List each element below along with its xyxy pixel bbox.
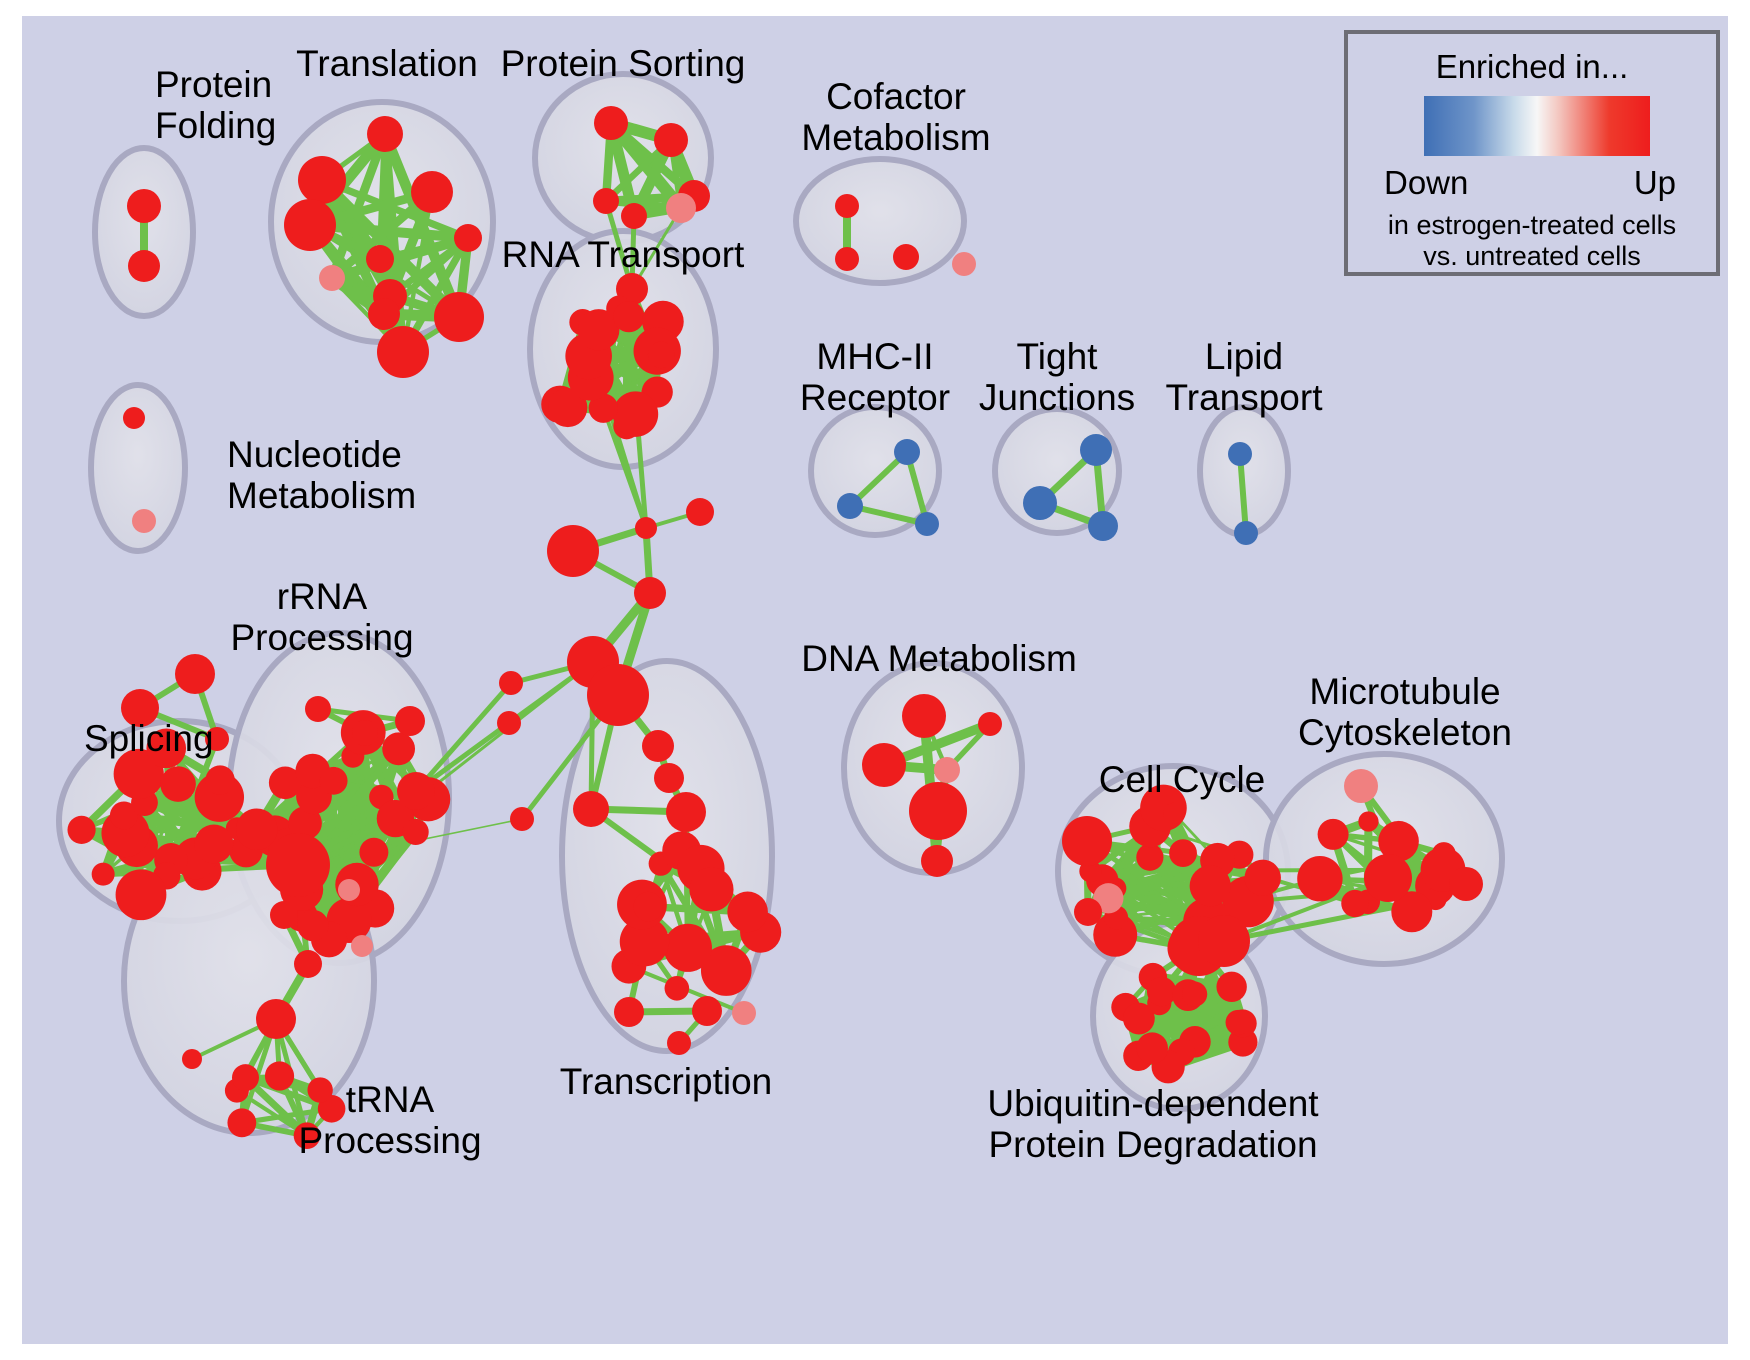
network-node[interactable]: [666, 792, 706, 832]
legend-subtitle: in estrogen-treated cellsvs. untreated c…: [1348, 210, 1716, 272]
network-node[interactable]: [128, 250, 160, 282]
network-node[interactable]: [621, 203, 647, 229]
network-node[interactable]: [634, 577, 666, 609]
network-node[interactable]: [665, 976, 690, 1001]
network-node[interactable]: [298, 156, 346, 204]
network-node[interactable]: [194, 824, 233, 863]
cluster-label-rrna-processing: rRNA Processing: [230, 576, 413, 658]
network-node[interactable]: [573, 791, 609, 827]
network-node[interactable]: [1023, 486, 1057, 520]
network-node[interactable]: [338, 879, 360, 901]
cluster-label-lipid-transport: Lipid Transport: [1166, 336, 1323, 418]
network-node[interactable]: [397, 772, 435, 810]
cluster-hull: [796, 159, 964, 283]
network-node[interactable]: [934, 757, 960, 783]
network-node[interactable]: [894, 439, 920, 465]
network-node[interactable]: [116, 869, 167, 920]
network-node[interactable]: [732, 1001, 756, 1025]
network-node[interactable]: [1341, 890, 1368, 917]
network-node[interactable]: [1344, 769, 1378, 803]
network-node[interactable]: [351, 935, 373, 957]
network-node[interactable]: [92, 863, 115, 886]
network-node[interactable]: [648, 342, 675, 369]
color-scale-bar: [1424, 96, 1650, 156]
network-node[interactable]: [256, 999, 296, 1039]
network-node[interactable]: [978, 712, 1002, 736]
network-node[interactable]: [319, 265, 345, 291]
network-node[interactable]: [411, 171, 453, 213]
network-node[interactable]: [266, 833, 330, 897]
network-node[interactable]: [294, 950, 322, 978]
network-node[interactable]: [1074, 898, 1102, 926]
network-node[interactable]: [1190, 865, 1231, 906]
network-node[interactable]: [1358, 811, 1378, 831]
network-node[interactable]: [835, 247, 859, 271]
network-node[interactable]: [1226, 1010, 1251, 1035]
network-node[interactable]: [1449, 867, 1483, 901]
network-node[interactable]: [902, 694, 946, 738]
network-node[interactable]: [67, 816, 95, 844]
network-node[interactable]: [1136, 1032, 1168, 1064]
network-node[interactable]: [654, 763, 684, 793]
network-node[interactable]: [727, 892, 768, 933]
cluster-label-nucleotide-metabolism: Nucleotide Metabolism: [227, 434, 416, 516]
figure-canvas: Protein FoldingTranslationProtein Sortin…: [0, 0, 1750, 1360]
network-node[interactable]: [835, 194, 859, 218]
network-node[interactable]: [497, 711, 521, 735]
network-node[interactable]: [1228, 442, 1252, 466]
network-node[interactable]: [909, 782, 967, 840]
network-node[interactable]: [366, 245, 394, 273]
network-node[interactable]: [1364, 854, 1412, 902]
cluster-label-tight-junctions: Tight Junctions: [979, 336, 1135, 418]
legend-title: Enriched in...: [1348, 48, 1716, 86]
network-node[interactable]: [587, 664, 649, 726]
network-node[interactable]: [127, 189, 161, 223]
network-node[interactable]: [182, 1049, 202, 1069]
legend-subtitle-line2: vs. untreated cells: [1423, 241, 1641, 271]
network-node[interactable]: [689, 867, 733, 911]
network-node[interactable]: [862, 743, 906, 787]
network-node[interactable]: [297, 910, 328, 941]
network-node[interactable]: [635, 517, 657, 539]
network-node[interactable]: [613, 301, 644, 332]
network-node[interactable]: [395, 706, 425, 736]
network-node[interactable]: [320, 767, 348, 795]
network-node[interactable]: [499, 671, 523, 695]
network-plot: Protein FoldingTranslationProtein Sortin…: [22, 16, 1728, 1344]
cluster-label-microtubule-cytoskeleton: Microtubule Cytoskeleton: [1298, 671, 1512, 753]
network-node[interactable]: [1198, 915, 1250, 967]
network-node[interactable]: [1234, 521, 1258, 545]
network-node[interactable]: [305, 696, 331, 722]
network-node[interactable]: [284, 199, 336, 251]
network-node[interactable]: [160, 766, 196, 802]
cluster-label-rna-transport: RNA Transport: [502, 234, 745, 275]
network-node[interactable]: [227, 1108, 256, 1137]
network-node[interactable]: [368, 298, 400, 330]
network-node[interactable]: [367, 116, 403, 152]
cluster-label-translation: Translation: [296, 43, 478, 84]
network-node[interactable]: [1318, 819, 1349, 850]
network-node[interactable]: [1147, 977, 1176, 1006]
network-node[interactable]: [132, 509, 156, 533]
network-node[interactable]: [510, 807, 534, 831]
network-node[interactable]: [666, 193, 696, 223]
cluster-label-ubiquitin-protein-degradation: Ubiquitin-dependent Protein Degradation: [987, 1083, 1318, 1165]
network-node[interactable]: [1169, 839, 1197, 867]
network-node[interactable]: [434, 292, 484, 342]
network-node[interactable]: [236, 808, 278, 850]
network-node[interactable]: [377, 326, 429, 378]
legend-box: Enriched in... Down Up in estrogen-treat…: [1344, 30, 1720, 276]
network-node[interactable]: [594, 106, 628, 140]
network-node[interactable]: [654, 123, 688, 157]
cluster-label-trna-processing: tRNA Processing: [298, 1079, 481, 1161]
network-node[interactable]: [205, 765, 234, 794]
network-node[interactable]: [664, 924, 712, 972]
network-node[interactable]: [1088, 511, 1118, 541]
network-node[interactable]: [613, 391, 658, 436]
network-node[interactable]: [614, 997, 644, 1027]
cluster-label-mhc-ii-receptor: MHC-II Receptor: [800, 336, 950, 418]
network-node[interactable]: [265, 1061, 294, 1090]
cluster-label-cell-cycle: Cell Cycle: [1099, 759, 1266, 800]
network-node[interactable]: [454, 224, 482, 252]
network-node[interactable]: [1216, 972, 1246, 1002]
network-node[interactable]: [1182, 982, 1207, 1007]
network-node[interactable]: [692, 996, 722, 1026]
network-node[interactable]: [837, 493, 863, 519]
cluster-label-protein-sorting: Protein Sorting: [501, 43, 746, 84]
network-node[interactable]: [893, 244, 919, 270]
network-node[interactable]: [175, 654, 215, 694]
cluster-label-transcription: Transcription: [560, 1061, 772, 1102]
network-node[interactable]: [667, 1031, 691, 1055]
network-node[interactable]: [352, 720, 378, 746]
network-node[interactable]: [1163, 803, 1184, 824]
network-node[interactable]: [232, 1064, 259, 1091]
network-node[interactable]: [123, 407, 145, 429]
network-node[interactable]: [1080, 434, 1112, 466]
cluster-label-dna-metabolism: DNA Metabolism: [801, 638, 1077, 679]
legend-subtitle-line1: in estrogen-treated cells: [1388, 210, 1676, 240]
legend-down-label: Down: [1384, 164, 1468, 202]
cluster-label-protein-folding: Protein Folding: [155, 64, 276, 146]
network-node[interactable]: [593, 188, 619, 214]
network-node[interactable]: [270, 901, 298, 929]
network-node[interactable]: [686, 498, 714, 526]
cluster-label-splicing: Splicing: [84, 718, 214, 759]
network-node[interactable]: [1136, 844, 1163, 871]
network-node[interactable]: [921, 845, 953, 877]
network-node[interactable]: [1062, 816, 1112, 866]
network-node[interactable]: [359, 838, 388, 867]
network-node[interactable]: [547, 525, 599, 577]
network-node[interactable]: [1297, 856, 1342, 901]
cluster-label-cofactor-metabolism: Cofactor Metabolism: [801, 76, 990, 158]
network-node[interactable]: [403, 819, 429, 845]
network-node[interactable]: [633, 892, 663, 922]
network-node[interactable]: [952, 252, 976, 276]
legend-up-label: Up: [1634, 164, 1676, 202]
network-node[interactable]: [915, 512, 939, 536]
network-node[interactable]: [1245, 860, 1281, 896]
network-node[interactable]: [642, 730, 674, 762]
network-node[interactable]: [382, 732, 415, 765]
